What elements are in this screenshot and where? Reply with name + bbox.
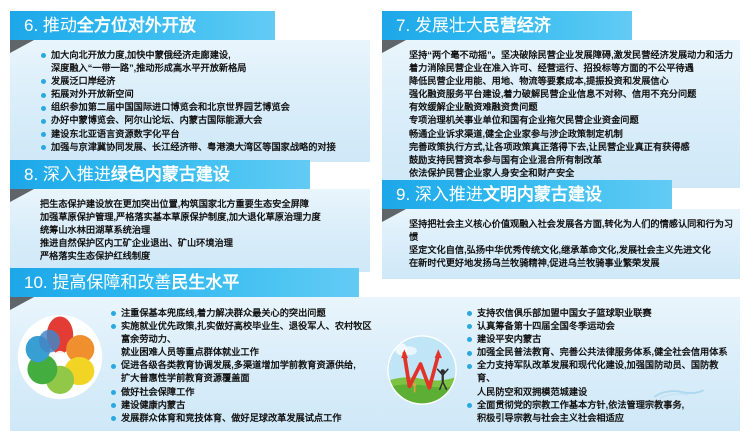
list-item-text: 办好中蒙博览会、阿尔山论坛、内蒙古国际能源大会 [51, 115, 262, 125]
section-9-number: 9. [396, 185, 410, 204]
section-6-panel: 6. 推动全方位对外开放 加大向北开放力度,加快中蒙俄经济走廊建设, 深度融入“… [10, 11, 370, 162]
bullet-icon [41, 119, 46, 124]
list-item: 着力消除民营企业在准入许可、经营运行、招投标等方面的不公平待遇 [409, 62, 736, 75]
decorative-swoosh-icon [652, 387, 706, 399]
section-7-number: 7. [396, 16, 410, 35]
section-10-header: 10. 提高保障和改善民生水平 [10, 268, 359, 297]
section-10-title-normal: 提高保障和改善 [52, 273, 171, 292]
section-9-fold-shadow [382, 209, 406, 222]
section-8-panel: 8. 深入推进绿色内蒙古建设 把生态保护建设放在更加突出位置,构筑国家北方重要生… [10, 160, 370, 272]
infographic-page: 6. 推动全方位对外开放 加大向北开放力度,加快中蒙俄经济走廊建设, 深度融入“… [0, 0, 744, 401]
flower-illustration-container [10, 307, 110, 401]
list-item: 加强全民普法教育、完善公共法律服务体系,健全社会信用体系 [466, 346, 736, 359]
list-item: 坚持把社会主义核心价值观融入社会发展各方面,转化为人们的情感认同和行为习惯 [409, 218, 736, 244]
list-item: 依法保护民营企业家人身安全和财产安全 [409, 167, 736, 180]
section-8-title-normal: 深入推进 [43, 165, 111, 184]
list-item: 鼓励支持民营资本参与国有企业混合所有制改革 [409, 154, 736, 167]
list-item: 严格落实生态保护红线制度 [40, 250, 364, 263]
bullet-icon [41, 93, 46, 98]
people-illustration-container [378, 307, 466, 407]
list-item-text: 建设东北亚语言资源数字化平台 [51, 129, 180, 139]
list-item-text: 发展群众体育和竞技体育、做好足球改革发展试点工作 [121, 413, 342, 423]
section-6-title-bold: 全方位对外开放 [77, 16, 196, 35]
bullet-icon [467, 351, 472, 356]
section-9-header: 9. 深入推进文明内蒙古建设 [382, 180, 672, 209]
list-item: 有效缓解企业融资难融资贵问题 [409, 101, 736, 114]
section-7-panel: 7. 发展壮大民营经济 坚持“两个毫不动摇”。坚决破除民营企业发展障碍,激发民营… [382, 11, 740, 188]
section-7-fold-shadow [382, 40, 406, 53]
list-item: 加强草原保护管理,严格落实基本草原保护制度,加大退化草原治理力度 [40, 211, 364, 224]
list-item: 做好社会保障工作 [110, 386, 378, 399]
section-6-body: 加大向北开放力度,加快中蒙俄经济走廊建设, 深度融入“一带一路”,推动形成高水平… [10, 40, 370, 162]
bullet-icon [111, 403, 116, 408]
list-item: 降低民营企业用能、用地、物流等要素成本,提振投资和发展信心 [409, 75, 736, 88]
bullet-icon [111, 416, 116, 421]
section-7-body: 坚持“两个毫不动摇”。坚决破除民营企业发展障碍,激发民营经济发展动力和活力 着力… [382, 40, 740, 188]
section-7-header: 7. 发展壮大民营经济 [382, 11, 632, 40]
section-10-panel: 10. 提高保障和改善民生水平 [10, 268, 740, 431]
section-6-number: 6. [24, 16, 38, 35]
bullet-icon [41, 132, 46, 137]
section-6-header: 6. 推动全方位对外开放 [10, 11, 275, 40]
list-item: 支持农信俱乐部加盟中国女子篮球职业联赛 [466, 307, 736, 320]
list-item-text: 注重保基本兜底线,着力解决群众最关心的突出问题 [121, 308, 326, 318]
list-item-text: 加强与京津冀协同发展、长江经济带、粤港澳大湾区等国家战略的对接 [51, 142, 336, 152]
section-9-title-normal: 深入推进 [415, 185, 483, 204]
bullet-icon [41, 145, 46, 150]
section-6-fold-shadow [10, 40, 34, 53]
section-9-list: 坚持把社会主义核心价值观融入社会发展各方面,转化为人们的情感认同和行为习惯 坚定… [409, 218, 736, 270]
list-item: 统筹山水林田湖草系统治理 [40, 224, 364, 237]
colorful-flower-icon [16, 313, 104, 401]
section-6-list: 加大向北开放力度,加快中蒙俄经济走廊建设, 深度融入“一带一路”,推动形成高水平… [40, 49, 364, 154]
list-item: 推进自然保护区内工矿企业退出、矿山环境治理 [40, 237, 364, 250]
bullet-icon [41, 106, 46, 111]
list-item: 畅通企业诉求渠道,健全企业家参与涉企政策制定机制 [409, 128, 736, 141]
bullet-icon [467, 403, 472, 408]
section-10-right-column: 支持农信俱乐部加盟中国女子篮球职业联赛 认真筹备第十四届全国冬季运动会 建设平安… [466, 307, 736, 425]
list-item: 加强与京津冀协同发展、长江经济带、粤港澳大湾区等国家战略的对接 [40, 141, 364, 154]
section-9-panel: 9. 深入推进文明内蒙古建设 坚持把社会主义核心价值观融入社会发展各方面,转化为… [382, 180, 740, 279]
section-8-number: 8. [24, 165, 38, 184]
section-8-title-bold: 绿色内蒙古建设 [111, 165, 230, 184]
list-item-text: 做好社会保障工作 [121, 387, 195, 397]
section-10-left-column: 注重保基本兜底线,着力解决群众最关心的突出问题 实施就业优先政策,扎实做好高校毕… [110, 307, 378, 425]
list-item: 注重保基本兜底线,着力解决群众最关心的突出问题 [110, 307, 378, 320]
section-8-header: 8. 深入推进绿色内蒙古建设 [10, 160, 310, 189]
list-item: 办好中蒙博览会、阿尔山论坛、内蒙古国际能源大会 [40, 114, 364, 127]
list-item: 发展群众体育和竞技体育、做好足球改革发展试点工作 [110, 412, 378, 425]
list-item: 强化融资服务平台建设,着力破解民营企业信息不对称、信用不充分问题 [409, 88, 736, 101]
list-item-text: 实施就业优先政策,扎实做好高校毕业生、退役军人、农村牧区富余劳动力、 就业困难人… [121, 321, 372, 357]
list-item-text: 全面贯彻党的宗教工作基本方针,依法管理宗教事务, 积极引导宗教与社会主义社会相适… [477, 400, 684, 423]
list-item-text: 拓展对外开放新空间 [51, 89, 134, 99]
bullet-icon [111, 311, 116, 316]
section-8-fold-shadow [10, 189, 34, 202]
bullet-icon [111, 324, 116, 329]
list-item-text: 加大向北开放力度,加快中蒙俄经济走廊建设, 深度融入“一带一路”,推动形成高水平… [51, 50, 247, 73]
bullet-icon [111, 390, 116, 395]
bullet-icon [467, 311, 472, 316]
list-item-text: 建设健康内蒙古 [121, 400, 185, 410]
list-item-text: 认真筹备第十四届全国冬季运动会 [477, 321, 615, 331]
section-8-list: 把生态保护建设放在更加突出位置,构筑国家北方重要生态安全屏障 加强草原保护管理,… [40, 198, 364, 263]
list-item: 专项治理机关事业单位和国有企业拖欠民营企业资金问题 [409, 114, 736, 127]
section-10-title-bold: 民生水平 [171, 273, 239, 292]
bullet-icon [41, 53, 46, 58]
bullet-icon [467, 364, 472, 369]
section-9-body: 坚持把社会主义核心价值观融入社会发展各方面,转化为人们的情感认同和行为习惯 坚定… [382, 209, 740, 279]
list-item-text: 发展泛口岸经济 [51, 76, 115, 86]
list-item: 促进各级各类教育协调发展,多渠道增加学前教育资源供给, 扩大普惠性学前教育资源覆… [110, 359, 378, 385]
section-7-title-normal: 发展壮大 [415, 16, 483, 35]
list-item: 完善政策执行方式,让各项政策真正落得下去,让民营企业真正有获得感 [409, 141, 736, 154]
section-7-list: 坚持“两个毫不动摇”。坚决破除民营企业发展障碍,激发民营经济发展动力和活力 着力… [409, 49, 736, 180]
list-item: 建设平安内蒙古 [466, 333, 736, 346]
list-item-text: 促进各级各类教育协调发展,多渠道增加学前教育资源供给, 扩大普惠性学前教育资源覆… [121, 360, 356, 383]
list-item: 坚持“两个毫不动摇”。坚决破除民营企业发展障碍,激发民营经济发展动力和活力 [409, 49, 736, 62]
list-item: 实施就业优先政策,扎实做好高校毕业生、退役军人、农村牧区富余劳动力、 就业困难人… [110, 320, 378, 359]
bullet-icon [41, 79, 46, 84]
list-item: 把生态保护建设放在更加突出位置,构筑国家北方重要生态安全屏障 [40, 198, 364, 211]
section-10-number: 10. [24, 273, 48, 292]
list-item-text: 支持农信俱乐部加盟中国女子篮球职业联赛 [477, 308, 652, 318]
section-7-title: 7. 发展壮大民营经济 [396, 17, 551, 34]
bullet-icon [467, 337, 472, 342]
section-7-title-bold: 民营经济 [483, 16, 551, 35]
list-item: 拓展对外开放新空间 [40, 88, 364, 101]
section-9-title: 9. 深入推进文明内蒙古建设 [396, 186, 602, 203]
list-item-text: 组织参加第二届中国国际进口博览会和北京世界园艺博览会 [51, 102, 290, 112]
list-item: 坚定文化自信,弘扬中华优秀传统文化,继承革命文化,发展社会主义先进文化 [409, 244, 736, 257]
list-item: 全面贯彻党的宗教工作基本方针,依法管理宗教事务, 积极引导宗教与社会主义社会相适… [466, 399, 736, 425]
list-item-text: 加强全民普法教育、完善公共法律服务体系,健全社会信用体系 [477, 347, 728, 357]
section-10-left-list: 注重保基本兜底线,着力解决群众最关心的突出问题 实施就业优先政策,扎实做好高校毕… [110, 307, 378, 425]
list-item: 加大向北开放力度,加快中蒙俄经济走廊建设, 深度融入“一带一路”,推动形成高水平… [40, 49, 364, 75]
list-item: 建设东北亚语言资源数字化平台 [40, 128, 364, 141]
section-6-title-normal: 推动 [43, 16, 77, 35]
section-10-fold-shadow [10, 297, 34, 310]
section-8-body: 把生态保护建设放在更加突出位置,构筑国家北方重要生态安全屏障 加强草原保护管理,… [10, 189, 370, 272]
section-9-title-bold: 文明内蒙古建设 [483, 185, 602, 204]
section-10-right-list: 支持农信俱乐部加盟中国女子篮球职业联赛 认真筹备第十四届全国冬季运动会 建设平安… [466, 307, 736, 425]
bullet-icon [111, 364, 116, 369]
list-item: 在新时代更好地发扬乌兰牧骑精神,促进乌兰牧骑事业繁荣发展 [409, 257, 736, 270]
growth-arrows-people-icon [385, 333, 459, 407]
bullet-icon [467, 324, 472, 329]
section-10-title: 10. 提高保障和改善民生水平 [24, 274, 239, 291]
list-item: 认真筹备第十四届全国冬季运动会 [466, 320, 736, 333]
section-10-body: 注重保基本兜底线,着力解决群众最关心的突出问题 实施就业优先政策,扎实做好高校毕… [10, 297, 740, 431]
list-item: 组织参加第二届中国国际进口博览会和北京世界园艺博览会 [40, 101, 364, 114]
list-item-text: 建设平安内蒙古 [477, 334, 541, 344]
section-6-title: 6. 推动全方位对外开放 [24, 17, 196, 34]
section-8-title: 8. 深入推进绿色内蒙古建设 [24, 166, 230, 183]
list-item: 发展泛口岸经济 [40, 75, 364, 88]
